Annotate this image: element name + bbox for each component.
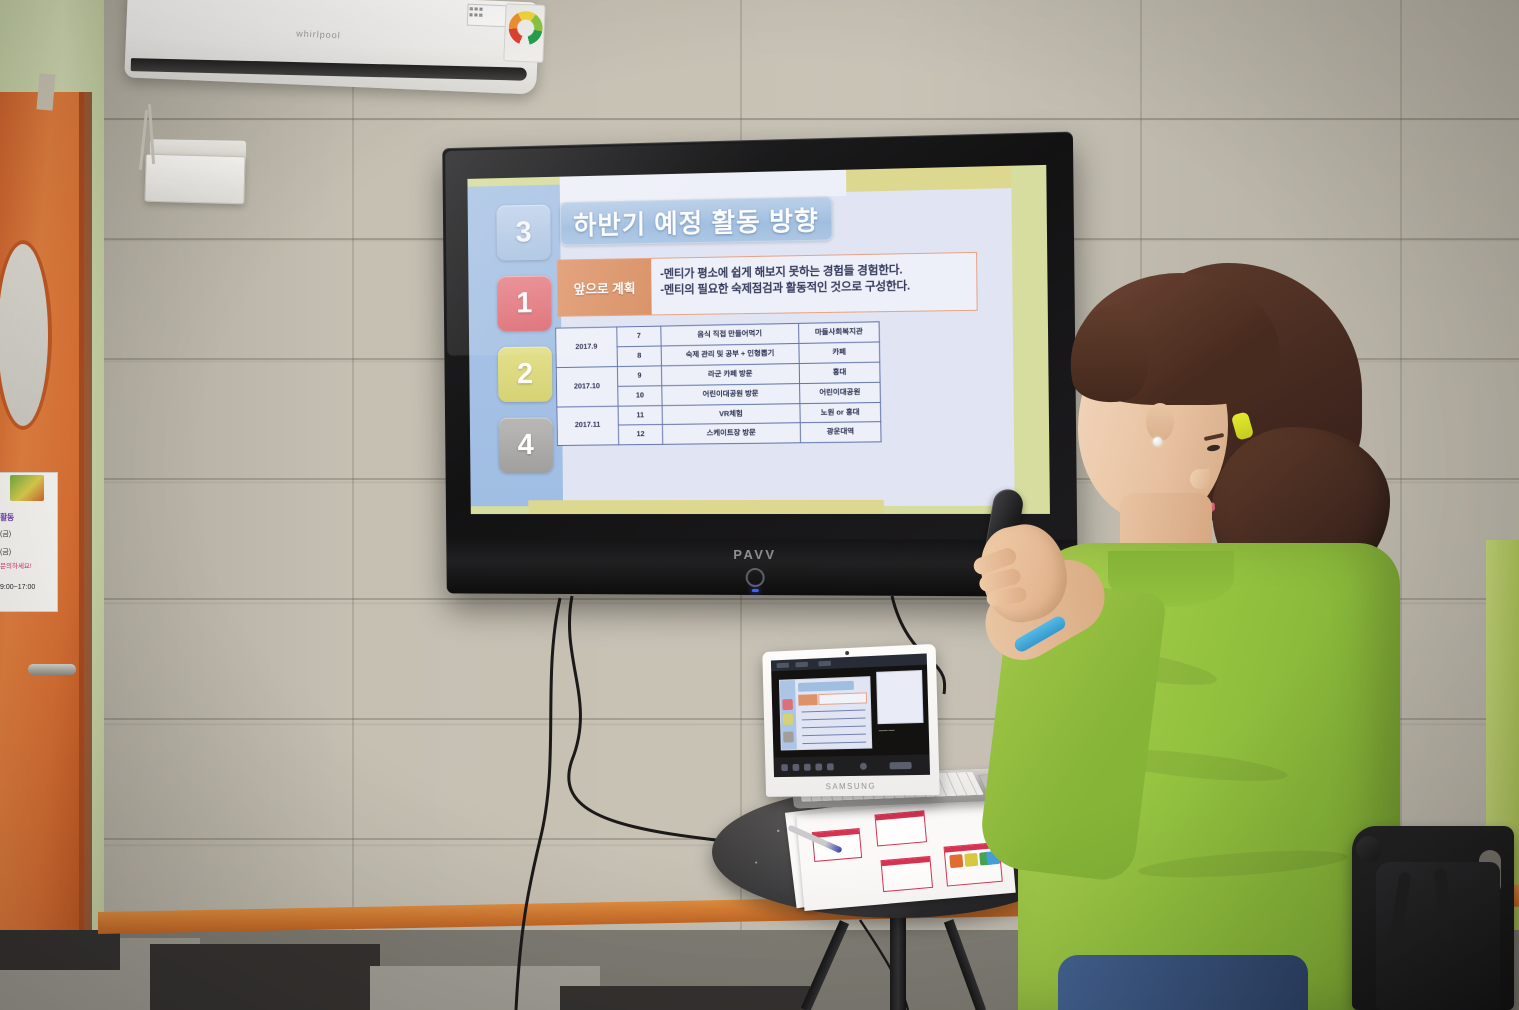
cell-no: 12: [618, 425, 663, 445]
slide-title: 하반기 예정 활동 방향: [560, 196, 833, 245]
eye: [1207, 444, 1221, 452]
plan-label: 앞으로 계획: [558, 259, 652, 316]
ac-brand-logo: whirlpool: [296, 29, 341, 41]
cell-place: 마들사회복지관: [798, 322, 879, 344]
laptop-screen[interactable]: ▬▬▬ ▬▬: [771, 653, 930, 777]
handout-cell: [874, 810, 927, 846]
power-led-icon: [752, 589, 759, 592]
poster-line-2: (금): [0, 548, 54, 559]
room-scene: 활동 (금) (금) 문의하세요! 9:00~17:00 whirlpool ▦…: [0, 0, 1519, 1010]
cell-activity: 라군 카페 방문: [662, 363, 800, 385]
slide-tab-3[interactable]: 3: [496, 205, 550, 261]
orange-door[interactable]: 활동 (금) (금) 문의하세요! 9:00~17:00: [0, 92, 84, 932]
ac-vent: [131, 58, 527, 81]
slide-section-tabs: 3 1 2 4: [496, 205, 553, 489]
laptop-brand-logo: SAMSUNG: [826, 782, 877, 792]
cell-date: 2017.9: [556, 327, 618, 367]
ear: [1146, 403, 1174, 441]
cell-place: 노원 or 홍대: [800, 402, 881, 423]
cell-place: 광운대역: [800, 422, 881, 443]
nose: [1190, 469, 1210, 489]
cell-no: 11: [618, 405, 663, 425]
cell-activity: 음식 직접 만들어먹기: [661, 323, 799, 345]
plan-lines: -멘티가 평소에 쉽게 해보지 못하는 경험들 경험한다. -멘티의 필요한 숙…: [651, 253, 977, 315]
slide-tab-2[interactable]: 2: [498, 346, 552, 402]
poster-image: [10, 475, 44, 501]
backpack[interactable]: [1376, 862, 1500, 1010]
cell-activity: VR체험: [662, 403, 800, 425]
cell-no: 8: [617, 346, 662, 366]
poster-hours: 9:00~17:00: [0, 584, 54, 591]
cell-place: 카페: [799, 342, 880, 363]
poster-line-1: (금): [0, 530, 54, 541]
earring: [1153, 437, 1162, 446]
cell-place: 어린이대공원: [799, 382, 880, 403]
cell-no: 7: [617, 326, 662, 347]
door-window: [0, 240, 52, 430]
cell-date: 2017.10: [556, 366, 618, 406]
cell-activity: 어린이대공원 방문: [662, 383, 800, 405]
webcam-icon: [845, 651, 849, 655]
presenter-notes-pane: [876, 670, 923, 724]
laptop-slide-preview: [779, 676, 872, 750]
poster-heading: 활동: [0, 512, 54, 523]
ac-bracket: [36, 73, 55, 110]
cell-place: 홍대: [799, 362, 880, 383]
cell-activity: 숙제 관리 및 공부 + 인형뽑기: [661, 343, 799, 365]
powerpoint-ribbon[interactable]: [771, 653, 927, 671]
cell-no: 10: [618, 385, 663, 405]
eyebrow: [1204, 433, 1224, 441]
tv-brand-logo: PAVV: [733, 547, 776, 562]
handout-cell: [880, 856, 933, 892]
presenter-toolbar[interactable]: [773, 754, 930, 777]
schedule-table: 2017.9 7 음식 직접 만들어먹기 마들사회복지관 8 숙제 관리 및 공…: [555, 321, 882, 446]
plan-box: 앞으로 계획 -멘티가 평소에 쉽게 해보지 못하는 경험들 경험한다. -멘티…: [557, 252, 978, 317]
slide-top-accent: [846, 166, 1011, 192]
door-handle[interactable]: [28, 664, 76, 675]
power-button-icon[interactable]: [746, 568, 765, 587]
slide-bottom-accent: [528, 500, 884, 514]
cell-activity: 스케이트장 방문: [663, 423, 801, 444]
poster-line-3: 문의하세요!: [0, 560, 54, 570]
cell-no: 9: [617, 366, 662, 386]
slide-tab-4[interactable]: 4: [499, 417, 553, 472]
laptop[interactable]: ▬▬▬ ▬▬ SAMSUNG: [762, 644, 939, 797]
jeans: [1058, 955, 1308, 1010]
chair-knob: [1356, 836, 1382, 862]
energy-rating-label: [503, 3, 545, 63]
door-poster: 활동 (금) (금) 문의하세요! 9:00~17:00: [0, 472, 58, 612]
slide-tab-1[interactable]: 1: [497, 275, 551, 331]
presenter-next-label: ▬▬▬ ▬▬: [879, 727, 923, 732]
junction-box: [144, 154, 245, 205]
cell-date: 2017.11: [557, 406, 619, 446]
